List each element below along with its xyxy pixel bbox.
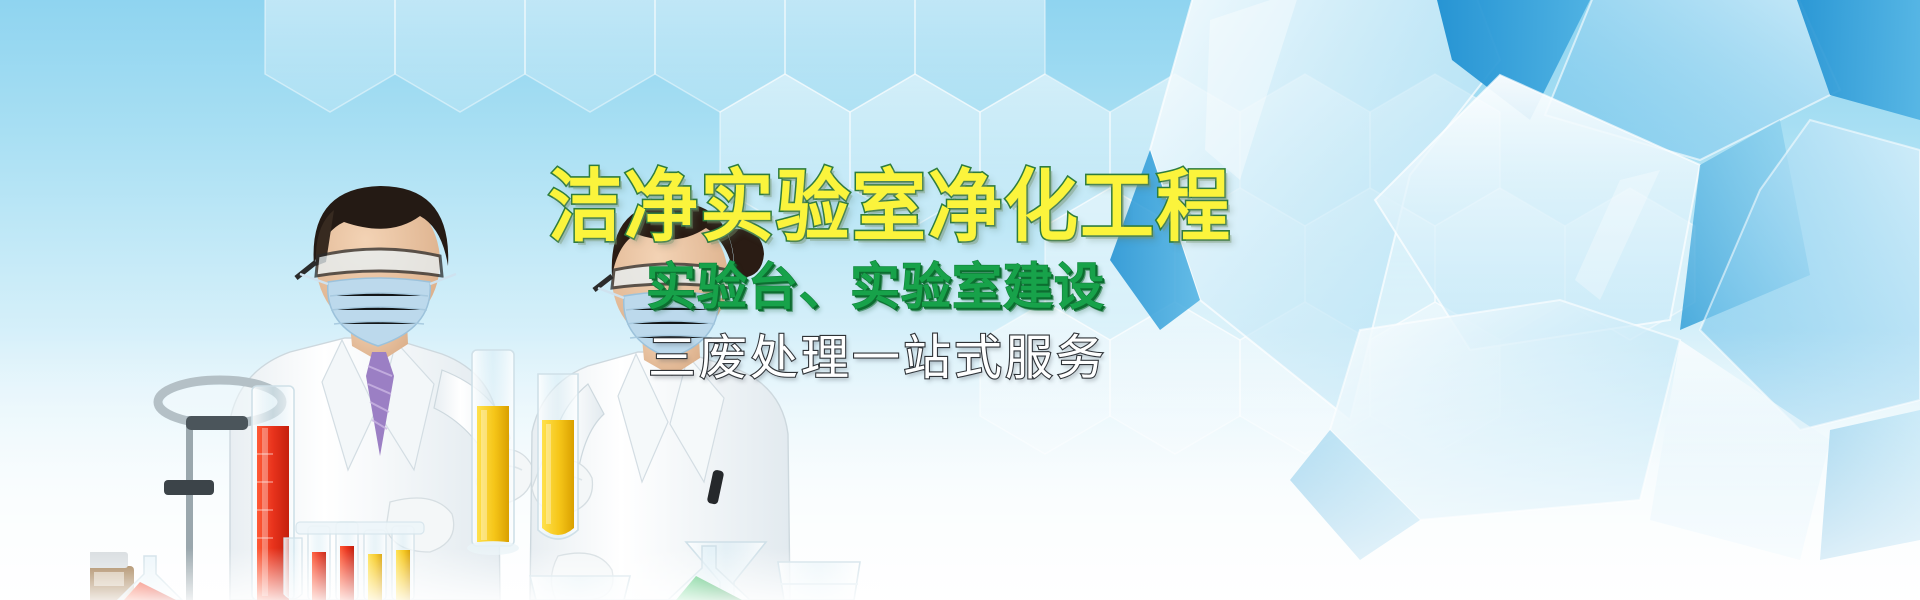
sub-headline: 实验台、实验室建设 xyxy=(646,262,1228,312)
tagline: 三废处理一站式服务 xyxy=(648,334,1228,382)
promo-banner: 洁净实验室净化工程 实验台、实验室建设 三废处理一站式服务 xyxy=(0,0,1920,600)
headline-copy-block: 洁净实验室净化工程 实验台、实验室建设 三废处理一站式服务 xyxy=(548,168,1228,382)
main-headline: 洁净实验室净化工程 xyxy=(548,168,1228,246)
